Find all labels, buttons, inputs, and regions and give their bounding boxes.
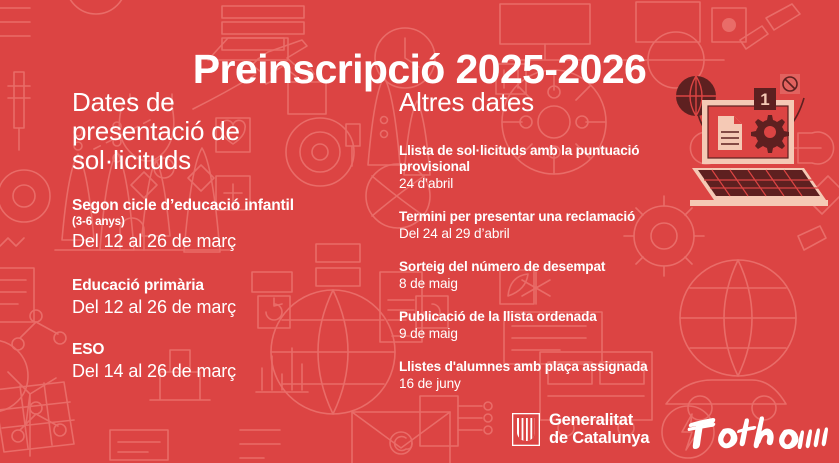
right-column-entry-list: Llista de sol·licituds amb la puntuació …	[399, 143, 699, 392]
entry-title: Segon cicle d’educació infantil	[72, 197, 382, 215]
entry-llista-sollicituds-puntuacio-provisional: Llista de sol·licituds amb la puntuació …	[399, 143, 699, 192]
entry-title: Llista de sol·licituds amb la puntuació …	[399, 143, 699, 175]
catalonia-shield-icon	[512, 413, 540, 446]
entry-date: 24 d’abril	[399, 175, 699, 192]
entry-date: 9 de maig	[399, 325, 699, 342]
entry-title: Educació primària	[72, 277, 382, 295]
entry-educacio-primaria: Educació primària Del 12 al 26 de març	[72, 277, 382, 319]
entry-eso: ESO Del 14 al 26 de març	[72, 341, 382, 383]
entry-title: Llistes d'alumnes amb plaça assignada	[399, 359, 699, 375]
entry-segon-cicle-educacio-infantil: Segon cicle d’educació infantil (3-6 any…	[72, 197, 382, 253]
generalitat-line-1: Generalitat	[549, 411, 649, 429]
badge-number: 1	[760, 90, 769, 109]
right-column-heading: Altres dates	[399, 88, 699, 117]
entry-date: Del 12 al 26 de març	[72, 230, 382, 253]
generalitat-line-2: de Catalunya	[549, 429, 649, 447]
tothom-logo: Tothom	[683, 409, 828, 449]
entry-date: 16 de juny	[399, 375, 699, 392]
entry-sorteig-numero-desempat: Sorteig del número de desempat 8 de maig	[399, 259, 699, 292]
entry-subtitle: (3-6 anys)	[72, 215, 382, 229]
footer-logos: Generalitat de Catalunya Tothom	[512, 407, 828, 451]
generalitat-wordmark: Generalitat de Catalunya	[549, 411, 649, 447]
entry-date: Del 24 al 29 d’abril	[399, 225, 699, 242]
entry-date: Del 14 al 26 de març	[72, 360, 382, 383]
left-column-entry-list: Segon cicle d’educació infantil (3-6 any…	[72, 197, 382, 383]
left-column: Dates de presentació de sol·licituds Seg…	[72, 88, 382, 383]
right-column: Altres dates Llista de sol·licituds amb …	[399, 88, 699, 409]
entry-publicacio-llista-ordenada: Publicació de la llista ordenada 9 de ma…	[399, 309, 699, 342]
left-column-heading: Dates de presentació de sol·licituds	[72, 88, 297, 175]
entry-title: Termini per presentar una reclamació	[399, 209, 699, 225]
generalitat-de-catalunya-logo: Generalitat de Catalunya	[512, 411, 649, 447]
entry-title: ESO	[72, 341, 382, 359]
entry-title: Publicació de la llista ordenada	[399, 309, 699, 325]
laptop-illustration: 1	[668, 68, 839, 208]
entry-llistes-alumnes-placa-assignada: Llistes d'alumnes amb plaça assignada 16…	[399, 359, 699, 392]
entry-termini-reclamacio: Termini per presentar una reclamació Del…	[399, 209, 699, 242]
entry-title: Sorteig del número de desempat	[399, 259, 699, 275]
entry-date: Del 12 al 26 de març	[72, 296, 382, 319]
preinscripcio-poster: Preinscripció 2025-2026 Dates de present…	[0, 0, 839, 463]
entry-date: 8 de maig	[399, 275, 699, 292]
